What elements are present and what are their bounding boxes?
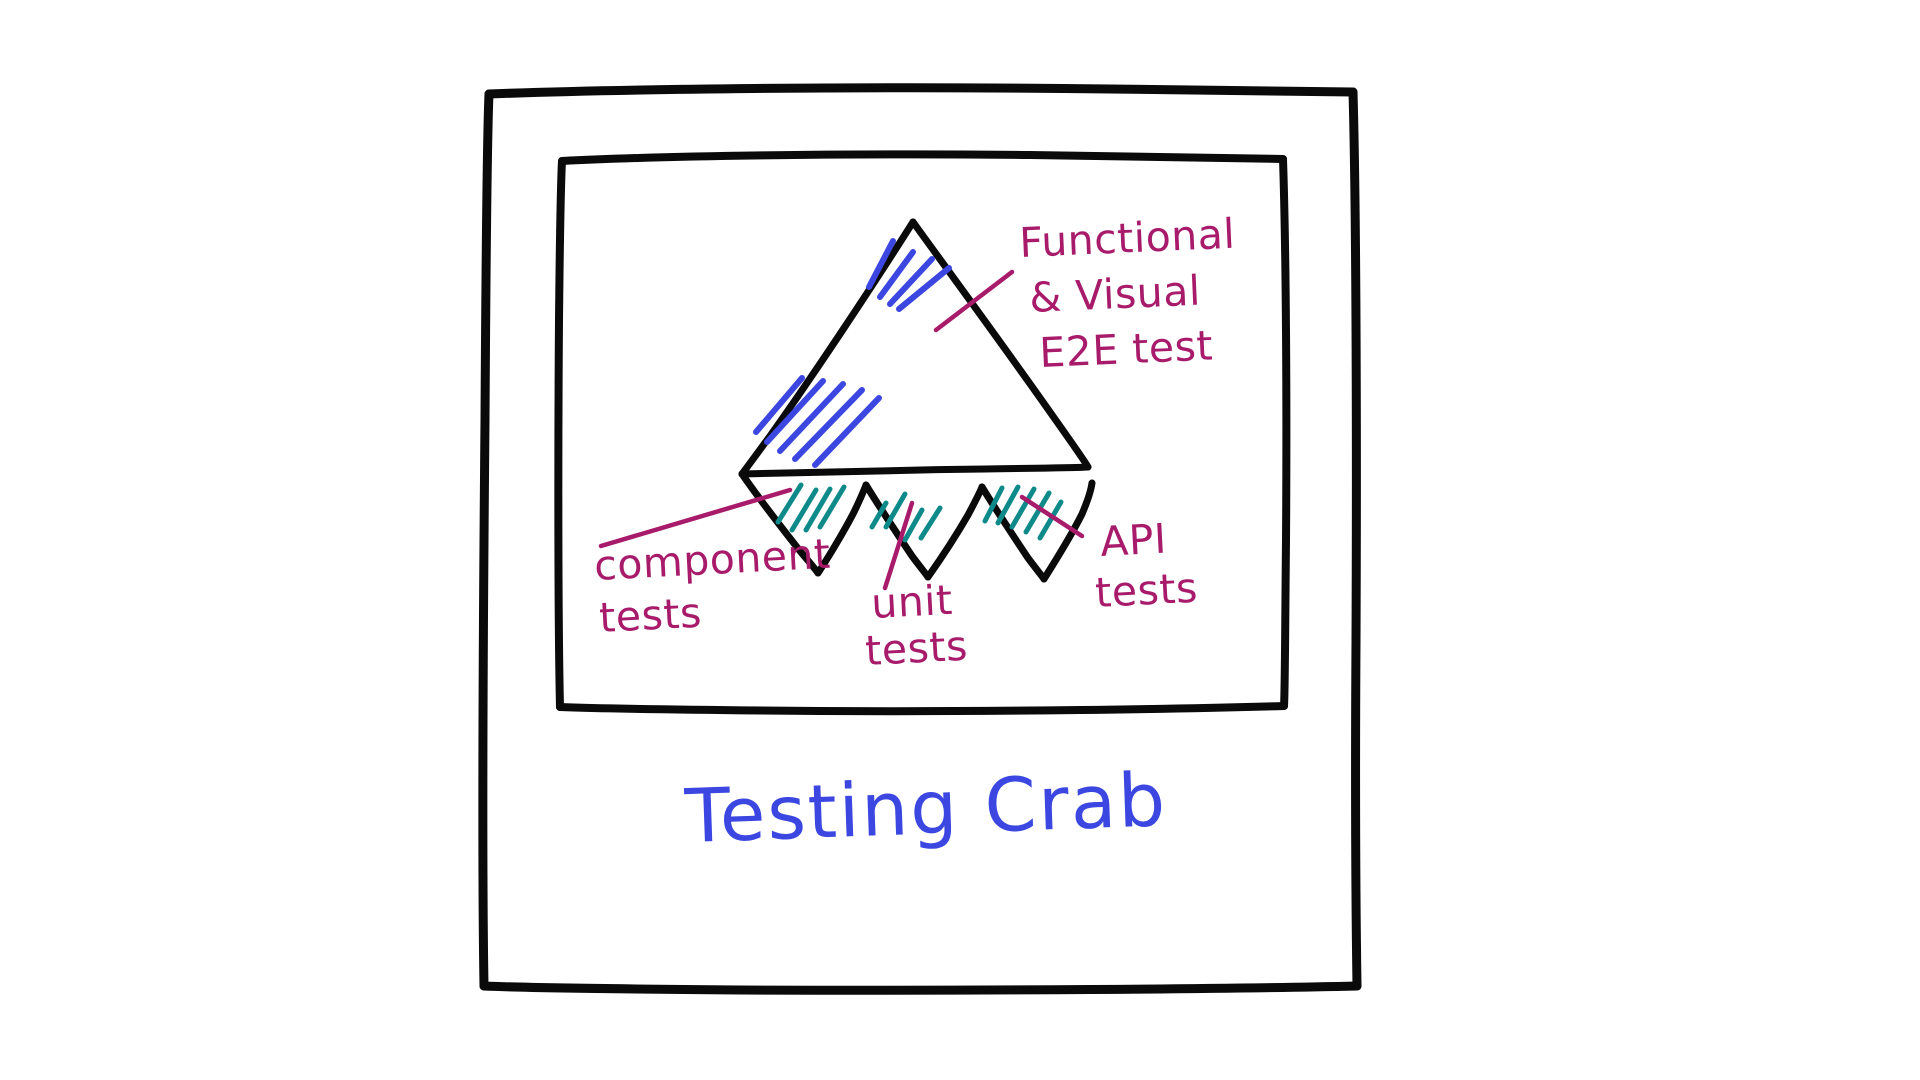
label-api-line-1: API: [1099, 515, 1168, 566]
label-e2e-line-1: Functional: [1018, 210, 1236, 267]
label-unit-line-2: tests: [864, 622, 969, 675]
page-background: [0, 0, 1920, 1080]
label-e2e-line-3: E2E test: [1038, 321, 1214, 377]
sketch-canvas: Functional & Visual E2E test component t…: [0, 0, 1920, 1080]
testing-crab-sketch: Functional & Visual E2E test component t…: [0, 0, 1920, 1080]
label-api-line-2: tests: [1094, 564, 1199, 617]
label-e2e-line-2: & Visual: [1028, 267, 1201, 322]
label-unit-line-1: unit: [870, 576, 954, 628]
figure-title: Testing Crab: [683, 757, 1169, 860]
label-component-line-2: tests: [598, 589, 703, 642]
